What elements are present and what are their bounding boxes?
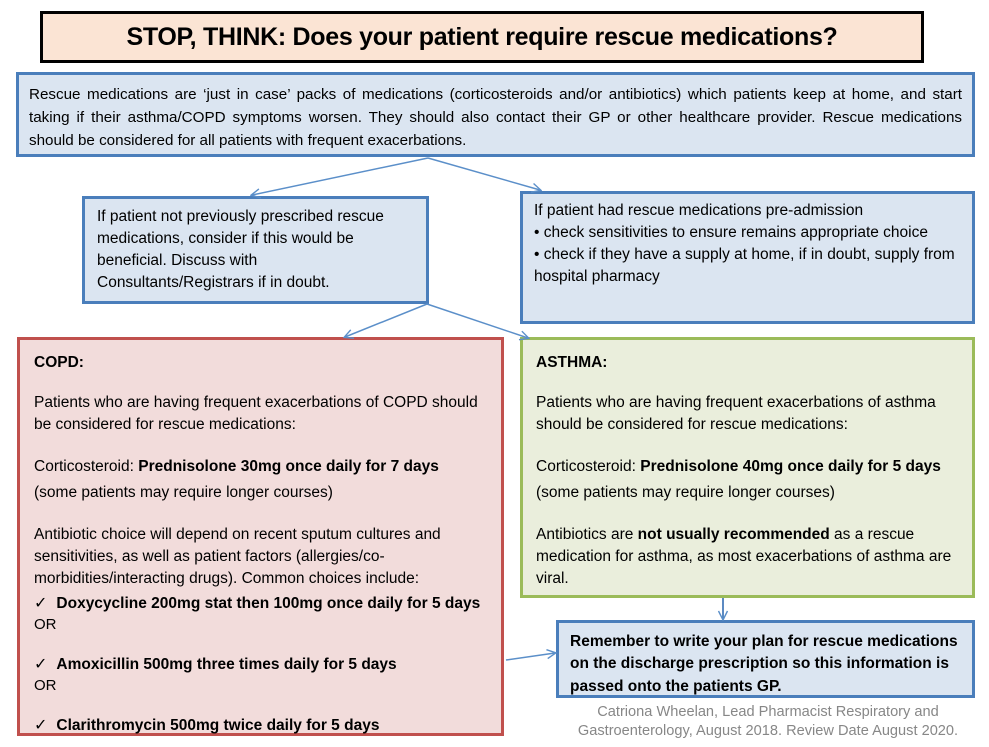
asthma-corticosteroid-drug: Prednisolone 40mg once daily for 5 days	[640, 458, 941, 475]
copd-antibiotic-intro: Antibiotic choice will depend on recent …	[34, 524, 489, 590]
arrow-copd-to-remember	[506, 653, 555, 660]
pre-admission-line-1: If patient had rescue medications pre-ad…	[534, 200, 962, 222]
copd-corticosteroid-line: Corticosteroid: Prednisolone 30mg once d…	[34, 456, 489, 478]
copd-corticosteroid-drug: Prednisolone 30mg once daily for 7 days	[138, 458, 439, 475]
copd-corticosteroid-note: (some patients may require longer course…	[34, 482, 489, 504]
arrow-intro-to-not-prescribed	[252, 158, 428, 195]
copd-or-label-2: OR	[34, 676, 489, 696]
copd-option-3-text: Clarithromycin 500mg twice daily for 5 d…	[56, 716, 379, 736]
copd-option-2-text: Amoxicillin 500mg three times daily for …	[56, 655, 396, 675]
remember-text: Remember to write your plan for rescue m…	[570, 631, 962, 698]
check-icon: ✓	[34, 716, 47, 737]
copd-option-3: ✓ Clarithromycin 500mg twice daily for 5…	[34, 716, 489, 737]
arrow-not-prescribed-to-copd	[345, 304, 427, 337]
asthma-corticosteroid-line: Corticosteroid: Prednisolone 40mg once d…	[536, 456, 960, 478]
copd-option-2: ✓ Amoxicillin 500mg three times daily fo…	[34, 655, 489, 676]
copd-intro-text: Patients who are having frequent exacerb…	[34, 392, 489, 436]
arrow-intro-to-pre-admission	[428, 158, 540, 190]
asthma-antibiotic-text: Antibiotics are not usually recommended …	[536, 524, 960, 590]
copd-option-1-text: Doxycycline 200mg stat then 100mg once d…	[56, 594, 480, 614]
check-icon: ✓	[34, 655, 47, 676]
asthma-corticosteroid-label: Corticosteroid:	[536, 458, 640, 475]
asthma-antibiotic-emphasis: not usually recommended	[638, 526, 830, 543]
pre-admission-line-3: • check if they have a supply at home, i…	[534, 244, 962, 288]
copd-corticosteroid-label: Corticosteroid:	[34, 458, 138, 475]
asthma-antibiotic-pre: Antibiotics are	[536, 526, 638, 543]
intro-text: Rescue medications are ‘just in case’ pa…	[29, 83, 962, 152]
pre-admission-box: If patient had rescue medications pre-ad…	[520, 191, 975, 324]
page-title: STOP, THINK: Does your patient require r…	[126, 23, 837, 52]
remember-box: Remember to write your plan for rescue m…	[556, 620, 975, 698]
pre-admission-line-2: • check sensitivities to ensure remains …	[534, 222, 962, 244]
asthma-corticosteroid-note: (some patients may require longer course…	[536, 482, 960, 504]
copd-box: COPD: Patients who are having frequent e…	[17, 337, 504, 736]
not-previously-prescribed-text: If patient not previously prescribed res…	[97, 206, 416, 294]
copd-heading: COPD:	[34, 354, 489, 372]
page-title-banner: STOP, THINK: Does your patient require r…	[40, 11, 924, 63]
asthma-box: ASTHMA: Patients who are having frequent…	[520, 337, 975, 598]
check-icon: ✓	[34, 594, 47, 615]
not-previously-prescribed-box: If patient not previously prescribed res…	[82, 196, 429, 304]
arrow-not-prescribed-to-asthma	[427, 304, 528, 338]
intro-description-box: Rescue medications are ‘just in case’ pa…	[16, 72, 975, 157]
asthma-heading: ASTHMA:	[536, 354, 960, 372]
copd-option-1: ✓ Doxycycline 200mg stat then 100mg once…	[34, 594, 489, 615]
copd-or-label-1: OR	[34, 615, 489, 635]
asthma-intro-text: Patients who are having frequent exacerb…	[536, 392, 960, 436]
footer-credit-line-2: Gastroenterology, August 2018. Review Da…	[556, 722, 980, 741]
footer-credit: Catriona Wheelan, Lead Pharmacist Respir…	[556, 703, 980, 742]
footer-credit-line-1: Catriona Wheelan, Lead Pharmacist Respir…	[556, 703, 980, 722]
